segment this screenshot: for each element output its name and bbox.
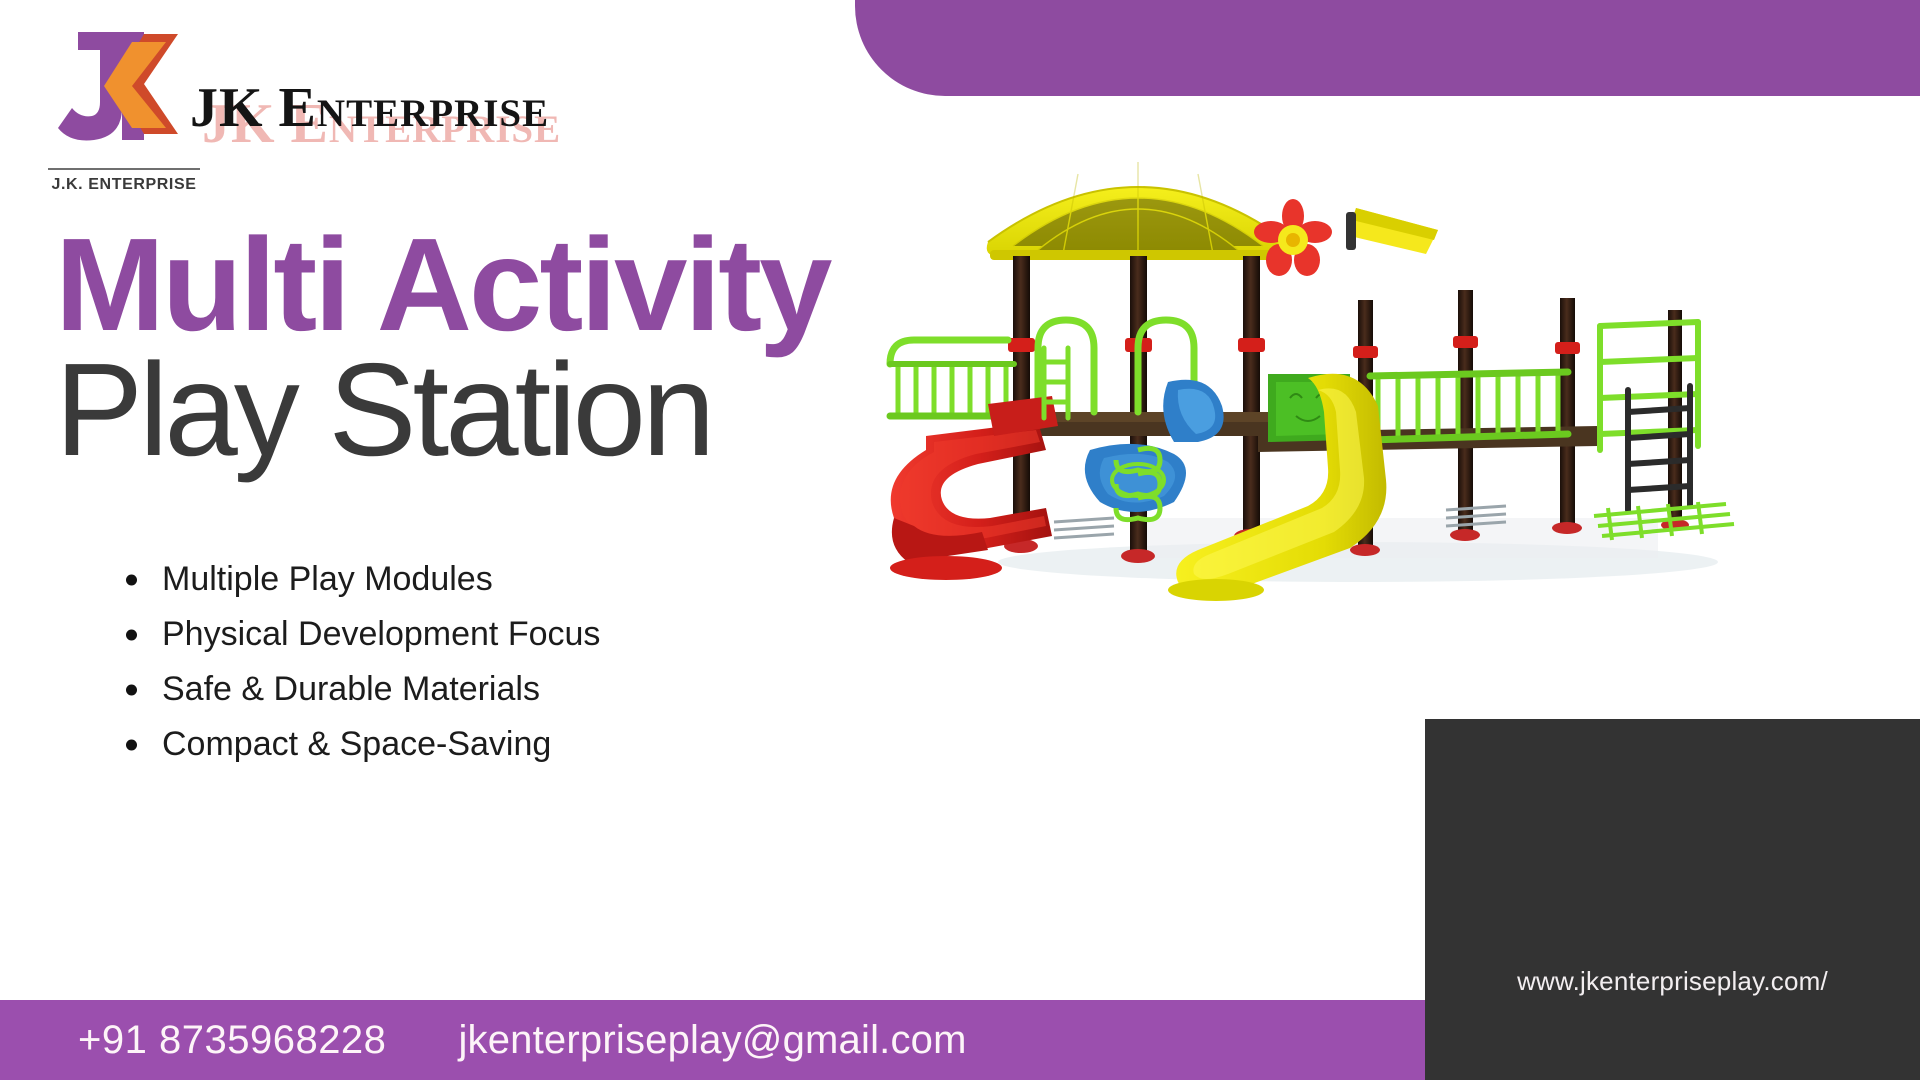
logo-caption: J.K. ENTERPRISE: [48, 176, 200, 194]
website-url[interactable]: www.jkenterpriseplay.com/: [1425, 966, 1920, 997]
email-address[interactable]: jkenterpriseplay@gmail.com: [458, 1018, 966, 1063]
list-item: Multiple Play Modules: [120, 552, 600, 607]
headline-line-2: Play Station: [55, 343, 905, 478]
bullet-dot-icon: [126, 684, 137, 695]
top-banner-shape: [855, 0, 1920, 96]
logo-divider: [48, 168, 200, 170]
headline-line-1: Multi Activity: [55, 222, 905, 349]
feature-label: Physical Development Focus: [162, 615, 600, 653]
feature-label: Multiple Play Modules: [162, 560, 493, 598]
feature-label: Compact & Space-Saving: [162, 725, 551, 763]
website-box: www.jkenterpriseplay.com/: [1425, 719, 1920, 1080]
list-item: Physical Development Focus: [120, 607, 600, 662]
bullet-dot-icon: [126, 629, 137, 640]
phone-number[interactable]: +91 8735968228: [78, 1018, 386, 1063]
feature-label: Safe & Durable Materials: [162, 670, 540, 708]
bullet-dot-icon: [126, 574, 137, 585]
contact-bar: +91 8735968228 jkenterpriseplay@gmail.co…: [0, 1000, 1425, 1080]
list-item: Safe & Durable Materials: [120, 662, 600, 717]
headline-block: Multi Activity Play Station: [55, 222, 905, 477]
bullet-dot-icon: [126, 739, 137, 750]
list-item: Compact & Space-Saving: [120, 717, 600, 772]
brand-name-wrap: JK Enterprise JK Enterprise: [190, 76, 660, 154]
feature-list: Multiple Play Modules Physical Developme…: [120, 552, 600, 772]
product-image: [838, 150, 1920, 620]
brand-logo-block: J.K. ENTERPRISE JK Enterprise JK Enterpr…: [48, 28, 668, 188]
brand-name: JK Enterprise: [190, 76, 549, 140]
jk-logo-icon: [48, 28, 188, 146]
